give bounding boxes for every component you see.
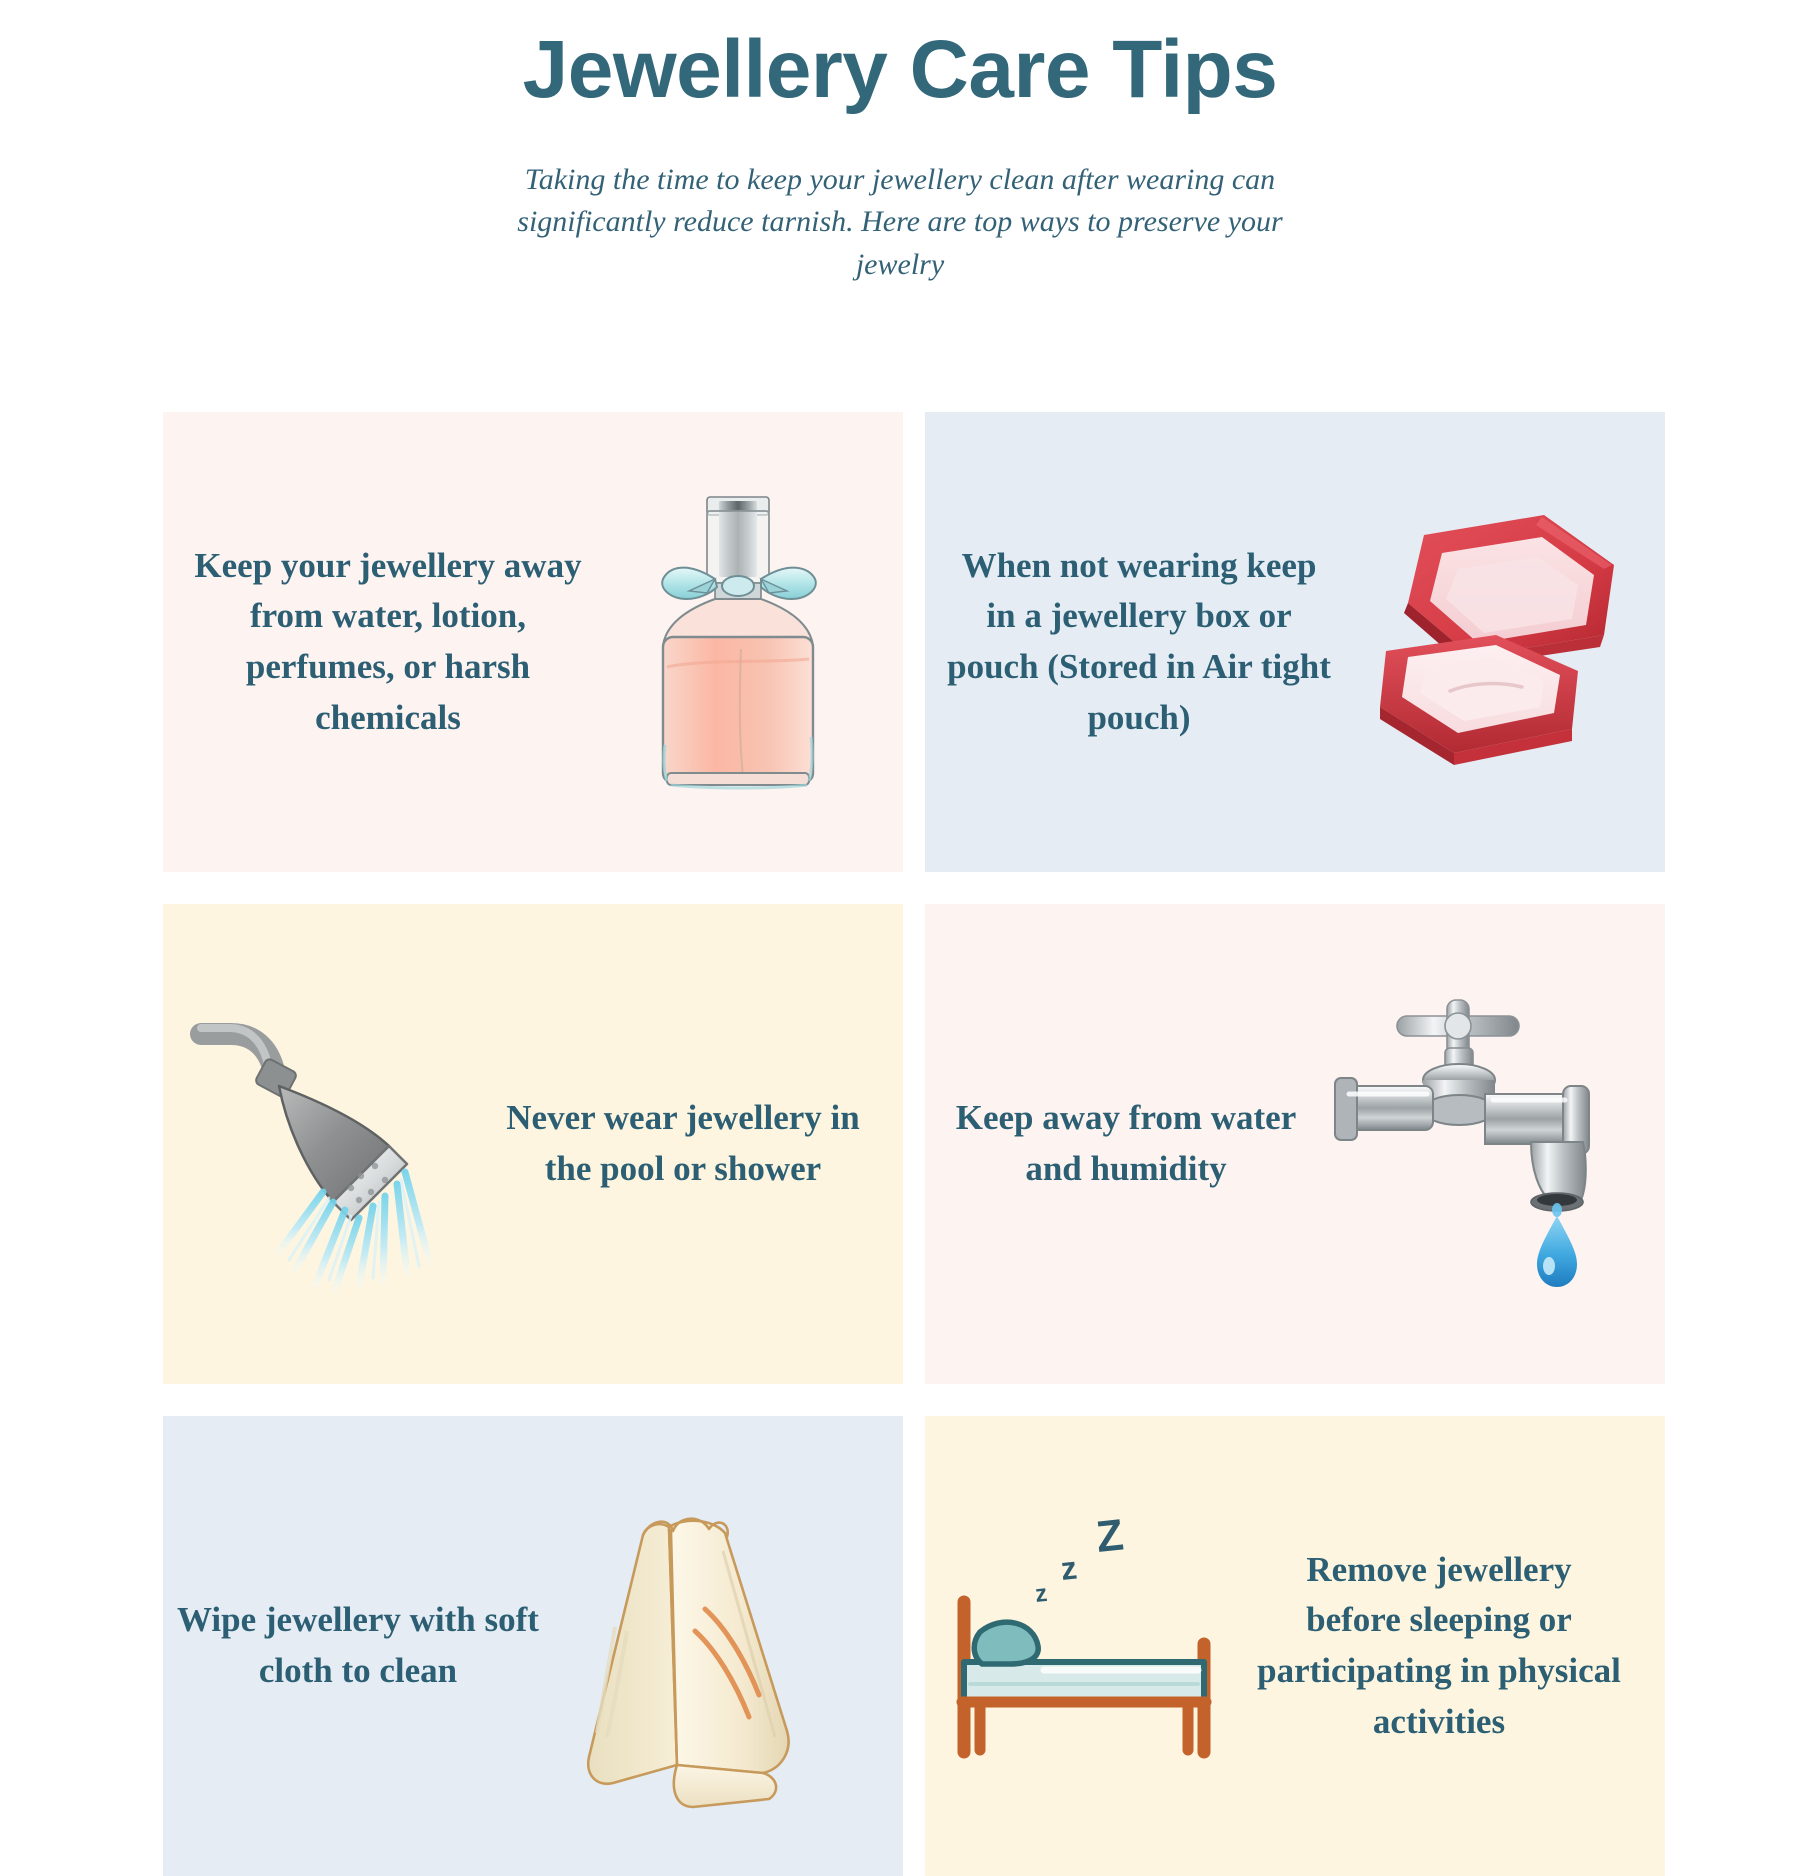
infographic-page: Jewellery Care Tips Taking the time to k… (0, 0, 1800, 1800)
header: Jewellery Care Tips Taking the time to k… (0, 0, 1800, 286)
svg-text:z: z (1059, 1549, 1079, 1586)
tip-card-2[interactable]: When not wearing keep in a jewellery box… (925, 412, 1665, 872)
tip-card-4-text: Keep away from water and humidity (925, 1093, 1315, 1195)
bed-sleeping-icon: Z z z (925, 1506, 1255, 1786)
tip-card-4[interactable]: Keep away from water and humidity (925, 904, 1665, 1384)
tip-card-1-text: Keep your jewellery away from water, lot… (163, 541, 593, 744)
jewellery-box-icon (1335, 507, 1647, 777)
tip-card-1[interactable]: Keep your jewellery away from water, lot… (163, 412, 903, 872)
faucet-icon (1315, 994, 1645, 1294)
tip-card-5[interactable]: Wipe jewellery with soft cloth to clean (163, 1416, 903, 1876)
tip-card-5-text: Wipe jewellery with soft cloth to clean (163, 1595, 543, 1697)
page-subtitle: Taking the time to keep your jewellery c… (500, 159, 1300, 287)
tips-grid: Keep your jewellery away from water, lot… (163, 412, 1643, 1876)
tip-card-3-text: Never wear jewellery in the pool or show… (503, 1093, 883, 1195)
svg-text:Z: Z (1094, 1510, 1126, 1562)
cloth-icon (543, 1481, 883, 1811)
perfume-bottle-icon (593, 487, 883, 797)
tip-card-3[interactable]: Never wear jewellery in the pool or show… (163, 904, 903, 1384)
shower-head-icon (163, 994, 503, 1294)
tip-card-6[interactable]: Z z z (925, 1416, 1665, 1876)
tip-card-2-text: When not wearing keep in a jewellery box… (925, 541, 1335, 744)
svg-text:z: z (1034, 1580, 1049, 1608)
tip-card-6-text: Remove jewellery before sleeping or part… (1255, 1545, 1645, 1748)
page-title: Jewellery Care Tips (0, 26, 1800, 115)
